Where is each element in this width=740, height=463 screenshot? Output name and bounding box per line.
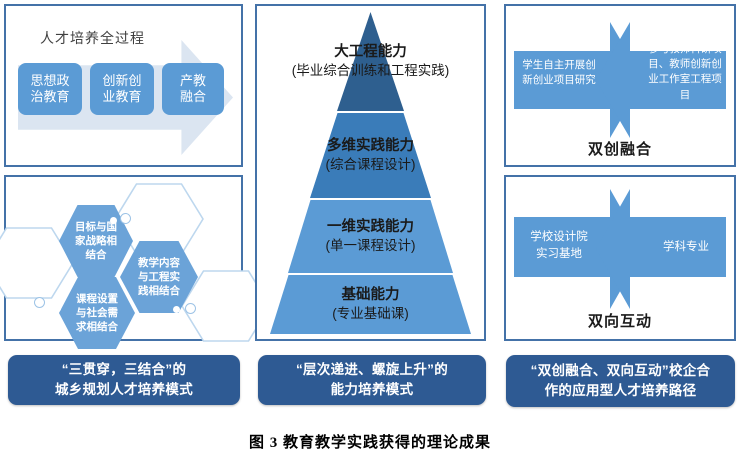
converging-arrows-top: 学生自主开展创 新创业项目研究 参与教师科研项 目、教师创新创 业工作室工程项 … (506, 6, 734, 165)
caption-left-line2: 城乡规划人才培养模式 (55, 380, 193, 400)
hex-3-line1: 课程设置 (76, 292, 118, 306)
pyramid-tier-3: 一维实践能力 (单一课程设计) (257, 200, 484, 273)
fusion-left-line2: 新创业项目研究 (516, 73, 602, 88)
process-stage-2-line2: 业教育 (102, 89, 141, 105)
interaction-right-text: 学科专业 (646, 239, 726, 256)
pyramid-tier-1: 大工程能力 (毕业综合训练和工程实践) (257, 12, 484, 111)
caption-pill-center: “层次递进、螺旋上升”的 能力培养模式 (258, 355, 486, 405)
caption-pill-right: “双创融合、双向互动”校企合 作的应用型人才培养路径 (506, 355, 735, 407)
figure-stage: 人才培养全过程 思想政 治教育 创新创 业教育 产教 融合 (0, 0, 740, 463)
hex-connector-dot-2 (173, 306, 180, 313)
panel-talent-process: 人才培养全过程 思想政 治教育 创新创 业教育 产教 融合 (4, 4, 243, 167)
hex-2-line1: 教学内容 (138, 256, 180, 270)
interaction-left-text: 学校设计院 实习基地 (516, 229, 602, 262)
pyramid-tier-1-title: 大工程能力 (292, 43, 450, 62)
panel-three-combinations: 目标与国 家战略相 结合 教学内容 与工程实 践相结合 课程设置 与社会需 求相… (4, 175, 243, 341)
hex-3-line3: 求相结合 (76, 320, 118, 334)
fusion-right-line1: 参与教师科研项 (642, 42, 728, 57)
process-stage-2: 创新创 业教育 (90, 63, 154, 115)
fusion-right-text: 参与教师科研项 目、教师创新创 业工作室工程项 目 (642, 42, 728, 103)
fusion-left-line1: 学生自主开展创 (516, 58, 602, 73)
hex-connector-ring-1 (120, 213, 131, 224)
hex-1-line2: 家战略相 (75, 234, 117, 248)
fusion-label: 双创融合 (506, 138, 734, 159)
hex-1-line3: 结合 (75, 248, 117, 262)
process-stage-1: 思想政 治教育 (18, 63, 82, 115)
pyramid: 大工程能力 (毕业综合训练和工程实践) 多维实践能力 (综合课程设计) (257, 6, 484, 339)
pyramid-tier-2: 多维实践能力 (综合课程设计) (257, 113, 484, 198)
pyramid-tier-3-title: 一维实践能力 (326, 218, 416, 237)
pyramid-tier-1-sub: (毕业综合训练和工程实践) (292, 62, 450, 80)
hex-connector-dot-3 (54, 305, 61, 312)
panel-two-way-interaction: 学校设计院 实习基地 学科专业 双向互动 (504, 175, 736, 341)
hex-connector-dot-1 (110, 217, 117, 224)
caption-right-line1: “双创融合、双向互动”校企合 (531, 361, 711, 381)
caption-left-line1: “三贯穿，三结合”的 (55, 360, 193, 380)
process-stage-1-line2: 治教育 (30, 89, 69, 105)
process-stage-3: 产教 融合 (162, 63, 224, 115)
hex-connector-ring-2 (185, 303, 196, 314)
panel-ability-pyramid: 大工程能力 (毕业综合训练和工程实践) 多维实践能力 (综合课程设计) (255, 4, 486, 341)
process-stage-3-line1: 产教 (180, 73, 206, 89)
process-title: 人才培养全过程 (40, 28, 145, 48)
hex-connector-ring-3 (34, 297, 45, 308)
pyramid-tier-3-sub: (单一课程设计) (326, 237, 416, 255)
process-stage-3-line2: 融合 (180, 89, 206, 105)
caption-pill-left: “三贯穿，三结合”的 城乡规划人才培养模式 (8, 355, 240, 405)
fusion-right-line4: 目 (642, 88, 728, 103)
pyramid-tier-4-sub: (专业基础课) (332, 305, 409, 323)
caption-center-line1: “层次递进、螺旋上升”的 (296, 360, 448, 380)
fusion-right-line3: 业工作室工程项 (642, 72, 728, 87)
interaction-label: 双向互动 (506, 310, 734, 331)
converging-arrows-bottom: 学校设计院 实习基地 学科专业 双向互动 (506, 177, 734, 339)
figure-caption: 图 3 教育教学实践获得的理论成果 (0, 431, 740, 452)
hex-2-line3: 践相结合 (138, 284, 180, 298)
process-stage-2-line1: 创新创 (102, 73, 141, 89)
fusion-left-text: 学生自主开展创 新创业项目研究 (516, 58, 602, 88)
pyramid-tier-2-sub: (综合课程设计) (326, 156, 416, 174)
interaction-right-line1: 学科专业 (646, 239, 726, 256)
pyramid-tier-4-title: 基础能力 (332, 286, 409, 305)
panel-innovation-fusion: 学生自主开展创 新创业项目研究 参与教师科研项 目、教师创新创 业工作室工程项 … (504, 4, 736, 167)
hex-2-line2: 与工程实 (138, 270, 180, 284)
fusion-right-line2: 目、教师创新创 (642, 57, 728, 72)
hexagon-cluster: 目标与国 家战略相 结合 教学内容 与工程实 践相结合 课程设置 与社会需 求相… (6, 177, 241, 339)
interaction-left-line2: 实习基地 (516, 246, 602, 263)
hex-3-line2: 与社会需 (76, 306, 118, 320)
caption-right-line2: 作的应用型人才培养路径 (531, 381, 711, 401)
pyramid-tier-2-title: 多维实践能力 (326, 137, 416, 156)
caption-center-line2: 能力培养模式 (296, 380, 448, 400)
pyramid-tier-4: 基础能力 (专业基础课) (257, 275, 484, 334)
process-stage-1-line1: 思想政 (30, 73, 69, 89)
interaction-left-line1: 学校设计院 (516, 229, 602, 246)
